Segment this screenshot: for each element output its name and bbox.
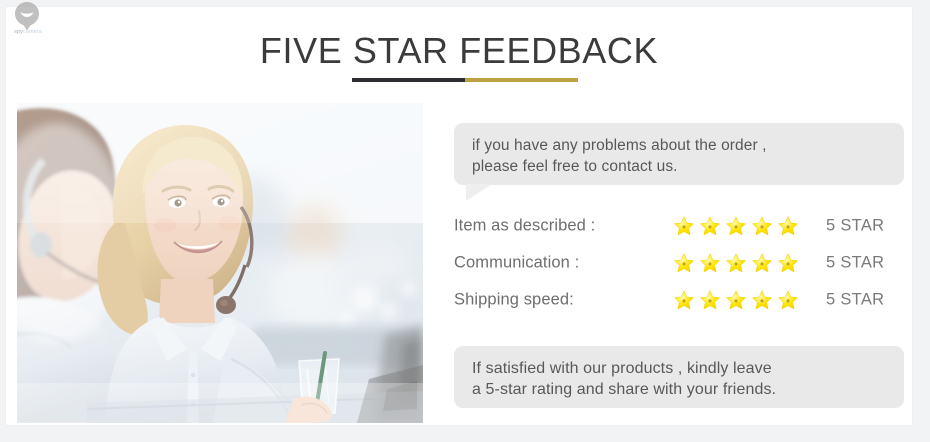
divider-segment-dark (352, 78, 465, 82)
star-icon (776, 288, 800, 311)
contact-message-line-2: please feel free to contact us. (472, 156, 888, 177)
star-icon (724, 251, 748, 274)
rating-label: Shipping speed: (454, 290, 574, 309)
rating-value: 5 STAR (826, 290, 884, 309)
star-icon (724, 214, 748, 237)
watermark-text-primary: spy (14, 29, 23, 35)
star-icon (698, 214, 722, 237)
rating-value: 5 STAR (826, 216, 884, 235)
rating-row: Item as described : 5 STAR (446, 207, 906, 244)
feedback-panel: if you have any problems about the order… (446, 103, 906, 423)
star-icon (750, 251, 774, 274)
watermark-text-secondary: camera (23, 29, 42, 35)
star-icon (698, 288, 722, 311)
content-card: FIVE STAR FEEDBACK (6, 7, 912, 425)
watermark-text: spycamera (6, 29, 50, 36)
page-title: FIVE STAR FEEDBACK (6, 30, 912, 72)
watermark-logo: spycamera (6, 1, 50, 41)
page-backdrop: FIVE STAR FEEDBACK (0, 0, 930, 442)
star-icon (750, 288, 774, 311)
title-divider (352, 78, 578, 82)
contact-message-line-1: if you have any problems about the order… (472, 135, 888, 156)
review-request-bubble: If satisfied with our products , kindly … (454, 346, 904, 408)
star-icon (698, 251, 722, 274)
review-request-line-2: a 5-star rating and share with your frie… (472, 379, 888, 400)
divider-segment-gold (465, 78, 578, 82)
star-icon (776, 214, 800, 237)
contact-message-bubble: if you have any problems about the order… (454, 123, 904, 185)
star-icon (672, 214, 696, 237)
header: FIVE STAR FEEDBACK (6, 7, 912, 99)
call-center-photo (17, 103, 423, 423)
star-icon (672, 251, 696, 274)
star-icon (672, 288, 696, 311)
photo-artwork (17, 103, 423, 423)
rating-value: 5 STAR (826, 253, 884, 272)
rating-list: Item as described : 5 STAR Communication… (446, 207, 906, 318)
rating-label: Communication : (454, 253, 579, 272)
star-icon (776, 251, 800, 274)
rating-stars (672, 251, 800, 274)
rating-stars (672, 288, 800, 311)
rating-stars (672, 214, 800, 237)
bubble-tail (466, 184, 492, 201)
review-request-line-1: If satisfied with our products , kindly … (472, 358, 888, 379)
star-icon (724, 288, 748, 311)
star-icon (750, 214, 774, 237)
smile-badge-logo-icon (14, 1, 40, 31)
rating-row: Shipping speed: 5 STAR (446, 281, 906, 318)
rating-row: Communication : 5 STAR (446, 244, 906, 281)
rating-label: Item as described : (454, 216, 595, 235)
